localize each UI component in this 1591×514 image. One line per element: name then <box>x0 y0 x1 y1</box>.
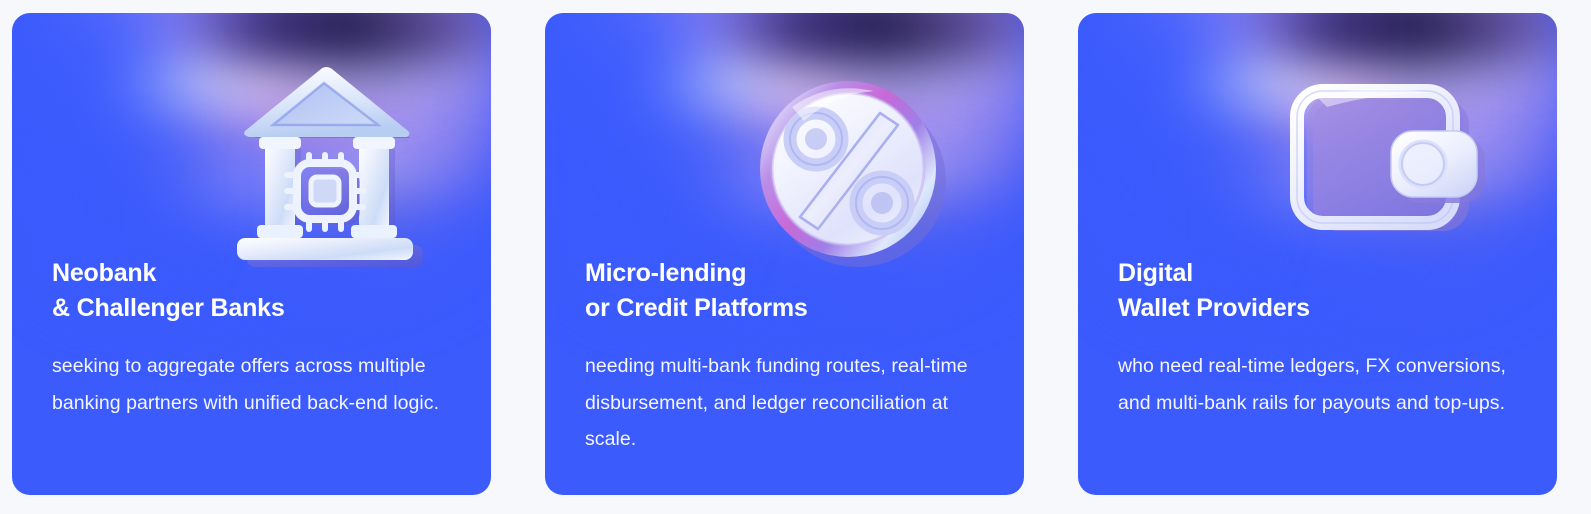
card-title: Neobank & Challenger Banks <box>52 256 457 326</box>
card-text: Micro-lending or Credit Platforms needin… <box>585 256 990 458</box>
card-description: needing multi-bank funding routes, real-… <box>585 348 990 458</box>
card-description: seeking to aggregate offers across multi… <box>52 348 457 421</box>
card-title-line2: or Credit Platforms <box>585 291 990 326</box>
card-text: Digital Wallet Providers who need real-t… <box>1118 256 1523 421</box>
icon-stage <box>545 13 1024 263</box>
bank-microchip-icon <box>227 55 427 260</box>
icon-stage <box>1078 13 1557 263</box>
card-title: Micro-lending or Credit Platforms <box>585 256 990 326</box>
card-description: who need real-time ledgers, FX conversio… <box>1118 348 1523 421</box>
icon-stage <box>12 13 491 263</box>
wallet-icon <box>1283 75 1493 260</box>
audience-card-micro-lending[interactable]: Micro-lending or Credit Platforms needin… <box>545 13 1024 495</box>
card-grid: Neobank & Challenger Banks seeking to ag… <box>0 0 1591 514</box>
card-title-line2: & Challenger Banks <box>52 291 457 326</box>
card-text: Neobank & Challenger Banks seeking to ag… <box>52 256 457 421</box>
audience-card-neobank[interactable]: Neobank & Challenger Banks seeking to ag… <box>12 13 491 495</box>
card-title-line2: Wallet Providers <box>1118 291 1523 326</box>
card-title: Digital Wallet Providers <box>1118 256 1523 326</box>
percent-coin-icon <box>752 73 952 263</box>
card-title-line1: Micro-lending <box>585 256 990 291</box>
audience-card-digital-wallet[interactable]: Digital Wallet Providers who need real-t… <box>1078 13 1557 495</box>
card-title-line1: Digital <box>1118 256 1523 291</box>
card-title-line1: Neobank <box>52 256 457 291</box>
